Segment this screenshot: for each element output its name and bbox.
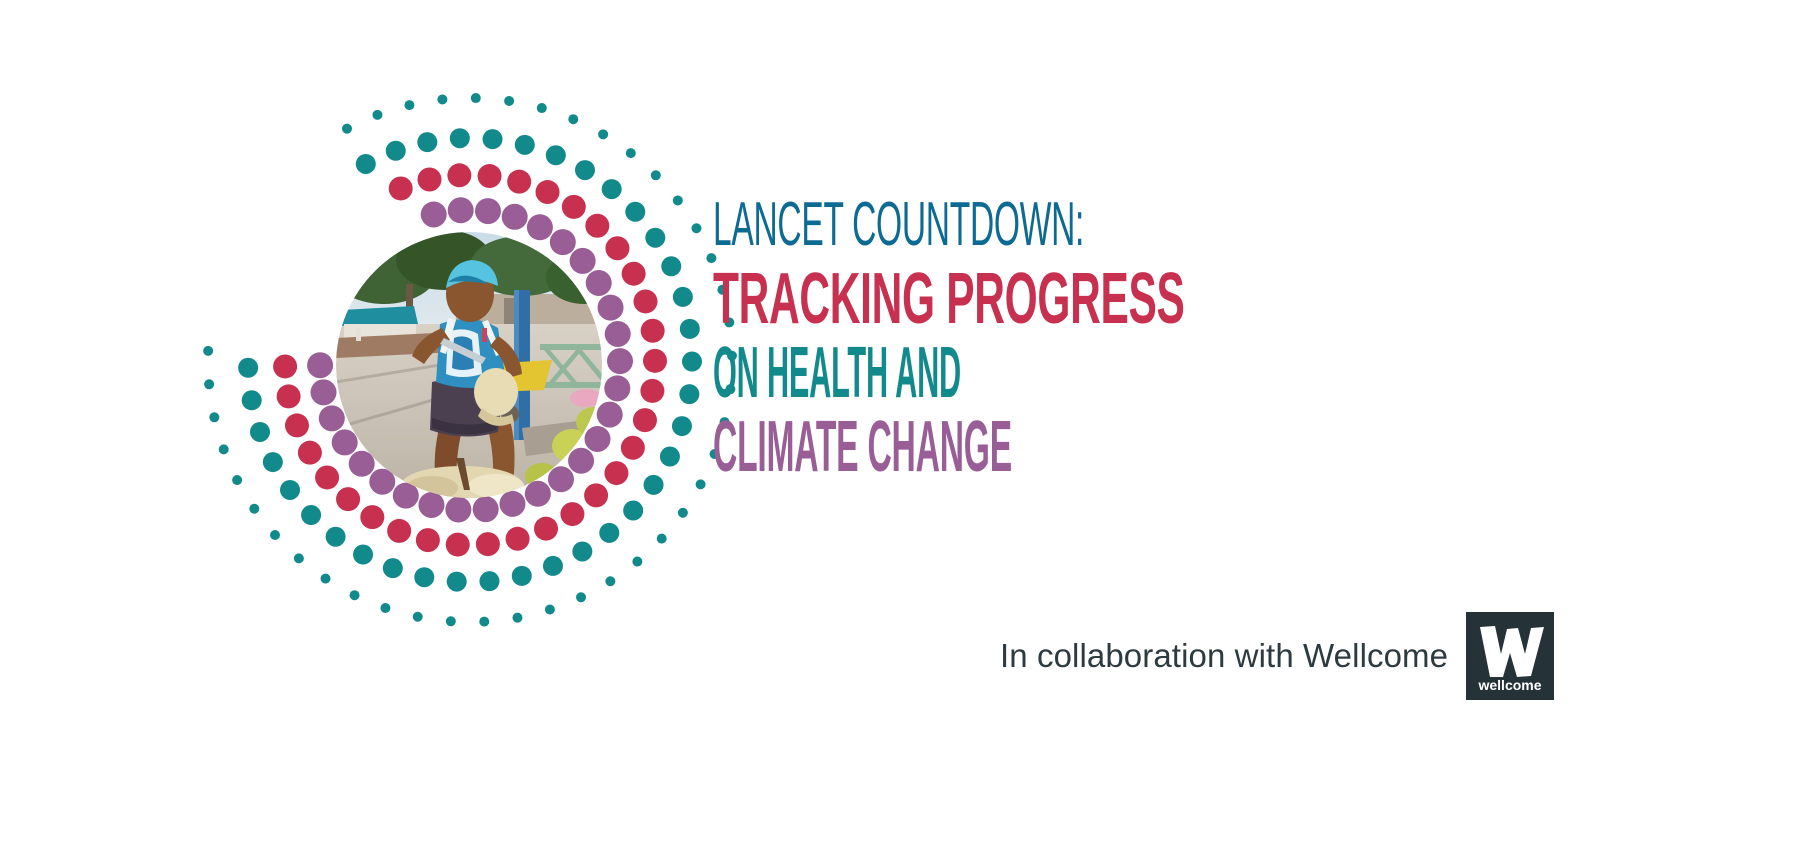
ring-dot-purple (319, 405, 345, 431)
ring-dot-outer-teal-small (537, 103, 547, 113)
ring-dot-crimson (360, 505, 384, 529)
ring-dot-outer-teal-small (479, 617, 489, 627)
ring-dot-outer-teal-small (504, 96, 514, 106)
ring-dot-teal (280, 480, 300, 500)
ring-dot-crimson (622, 262, 646, 286)
ring-dot-outer-teal-small (350, 590, 360, 600)
ring-dot-teal (242, 390, 262, 410)
ring-dot-crimson (446, 533, 470, 557)
wellcome-logo: wellcome (1466, 612, 1554, 700)
ring-dot-outer-teal-small (696, 479, 706, 489)
ring-dot-crimson (447, 163, 471, 187)
ring-dot-crimson (534, 517, 558, 541)
ring-dot-outer-teal-small (626, 148, 636, 158)
ring-dot-crimson (621, 436, 645, 460)
ring-dot-crimson (298, 441, 322, 465)
ring-dot-teal (625, 202, 645, 222)
ring-dot-purple (499, 491, 525, 517)
ring-dot-teal (447, 572, 467, 592)
distant-person-white (356, 328, 361, 341)
ring-dot-teal (512, 566, 532, 586)
circular-photo (336, 232, 602, 498)
ring-dot-teal (326, 527, 346, 547)
ring-dot-teal (672, 416, 692, 436)
ring-dot-teal (546, 145, 566, 165)
ring-dot-crimson (418, 167, 442, 191)
ring-dot-crimson (478, 164, 502, 188)
ring-dot-teal (644, 475, 664, 495)
ring-dot-outer-teal-small (372, 110, 382, 120)
ring-dot-outer-teal-small (209, 412, 219, 422)
ring-dot-teal (661, 256, 681, 276)
ring-dot-purple (598, 295, 624, 321)
ring-dot-purple (445, 497, 471, 523)
headline-line-4: CLIMATE CHANGE (713, 414, 1171, 482)
ring-dot-teal (645, 228, 665, 248)
ring-dot-teal (301, 505, 321, 525)
ring-dot-teal (386, 141, 406, 161)
ring-dot-outer-teal-small (512, 613, 522, 623)
ring-dot-crimson (389, 176, 413, 200)
ring-dot-crimson (273, 354, 297, 378)
photo-scene (336, 232, 602, 498)
ring-dot-purple (607, 348, 633, 374)
ring-dot-crimson (285, 413, 309, 437)
ring-dot-outer-teal-small (605, 576, 615, 586)
ring-dot-outer-teal-small (270, 530, 280, 540)
ring-dot-crimson (416, 528, 440, 552)
ring-dot-purple (586, 270, 612, 296)
ring-dot-teal (575, 160, 595, 180)
ring-dot-outer-teal-small (678, 508, 688, 518)
ring-dot-teal (599, 523, 619, 543)
ring-dot-teal (623, 501, 643, 521)
ring-dot-outer-teal-small (632, 557, 642, 567)
wellcome-logo-mark: wellcome (1471, 620, 1549, 692)
ring-dot-purple (421, 201, 447, 227)
ring-dot-outer-teal-small (576, 592, 586, 602)
ring-dot-crimson (506, 527, 530, 551)
ring-dot-crimson (605, 236, 629, 260)
ring-dot-teal (238, 358, 258, 378)
ring-dot-crimson (387, 519, 411, 543)
ring-dot-outer-teal-small (471, 93, 481, 103)
ring-dot-teal (353, 545, 373, 565)
ring-dot-crimson (315, 465, 339, 489)
ring-dot-purple (332, 429, 358, 455)
ring-dot-teal (673, 287, 693, 307)
ring-dot-purple (548, 466, 574, 492)
ring-dot-purple (525, 481, 551, 507)
ring-dot-crimson (643, 349, 667, 373)
ring-dot-teal (450, 128, 470, 148)
ring-dot-purple (418, 492, 444, 518)
ring-dot-purple (597, 402, 623, 428)
ring-dot-teal (515, 135, 535, 155)
ring-dot-teal (483, 129, 503, 149)
ring-dot-teal (660, 447, 680, 467)
ring-dot-crimson (604, 461, 628, 485)
ring-dot-outer-teal-small (294, 553, 304, 563)
ring-dot-outer-teal-small (204, 379, 214, 389)
headline-line-1: LANCET COUNTDOWN: (713, 196, 1243, 254)
wellcome-w-icon (1480, 626, 1544, 677)
ring-dot-outer-teal-small (380, 603, 390, 613)
ring-dot-teal (250, 422, 270, 442)
ring-dot-purple (311, 379, 337, 405)
ring-dot-teal (263, 452, 283, 472)
ring-dot-outer-teal-small (657, 534, 667, 544)
ring-dot-purple (475, 198, 501, 224)
headline-block: LANCET COUNTDOWN: TRACKING PROGRESS ON H… (713, 196, 1693, 481)
ring-dot-crimson (641, 319, 665, 343)
ring-dot-crimson (585, 214, 609, 238)
ring-dot-outer-teal-small (568, 114, 578, 124)
ring-dot-teal (356, 154, 376, 174)
headline-line-3: ON HEALTH AND (713, 340, 1131, 408)
ring-dot-teal (414, 567, 434, 587)
ring-dot-crimson (336, 487, 360, 511)
ring-dot-purple (550, 229, 576, 255)
ring-dot-teal (682, 352, 702, 372)
ring-dot-teal (417, 132, 437, 152)
ring-dot-teal (543, 556, 563, 576)
ring-dot-purple (448, 197, 474, 223)
ring-dot-purple (527, 214, 553, 240)
ring-dot-purple (307, 352, 333, 378)
distant-person-red (482, 328, 487, 342)
ring-dot-purple (570, 248, 596, 274)
ring-dot-outer-teal-small (437, 94, 447, 104)
ring-dot-purple (605, 321, 631, 347)
ring-dot-outer-teal-small (342, 124, 352, 134)
ring-dot-outer-teal-small (203, 346, 213, 356)
ring-dot-crimson (536, 180, 560, 204)
ring-dot-crimson (476, 532, 500, 556)
ring-dot-outer-teal-small (232, 475, 242, 485)
ring-dot-crimson (277, 384, 301, 408)
ring-dot-outer-teal-small (673, 195, 683, 205)
ring-dot-purple (585, 426, 611, 452)
slide-canvas: LANCET COUNTDOWN: TRACKING PROGRESS ON H… (0, 0, 1805, 863)
ring-dot-outer-teal-small (545, 605, 555, 615)
ring-dot-teal (602, 179, 622, 199)
photo-illustration (336, 232, 602, 498)
ring-dot-crimson (562, 195, 586, 219)
ring-dot-outer-teal-small (404, 100, 414, 110)
ring-dot-purple (473, 496, 499, 522)
collaboration-label: In collaboration with Wellcome (1000, 637, 1448, 675)
ring-dot-teal (679, 384, 699, 404)
ring-dot-outer-teal-small (651, 170, 661, 180)
ring-dot-purple (604, 375, 630, 401)
ring-dot-teal (479, 571, 499, 591)
ring-dot-teal (383, 558, 403, 578)
ring-dot-outer-teal-small (691, 223, 701, 233)
ring-dot-outer-teal-small (446, 616, 456, 626)
ring-dot-outer-teal-small (321, 574, 331, 584)
ring-dot-crimson (633, 289, 657, 313)
ring-dot-outer-teal-small (249, 504, 259, 514)
collaboration-row: In collaboration with Wellcome wellcome (1000, 612, 1554, 700)
ring-dot-crimson (640, 379, 664, 403)
ring-dot-teal (572, 541, 592, 561)
ring-dot-crimson (507, 170, 531, 194)
headline-line-2: TRACKING PROGRESS (713, 266, 1291, 334)
ring-dot-crimson (560, 502, 584, 526)
ring-dot-crimson (633, 408, 657, 432)
ring-dot-crimson (584, 483, 608, 507)
wellcome-wordmark: wellcome (1478, 677, 1542, 692)
ring-dot-outer-teal-small (219, 444, 229, 454)
ring-dot-teal (680, 319, 700, 339)
ring-dot-purple (568, 448, 594, 474)
ring-dot-outer-teal-small (598, 129, 608, 139)
ring-dot-purple (502, 204, 528, 230)
ring-dot-outer-teal-small (413, 612, 423, 622)
